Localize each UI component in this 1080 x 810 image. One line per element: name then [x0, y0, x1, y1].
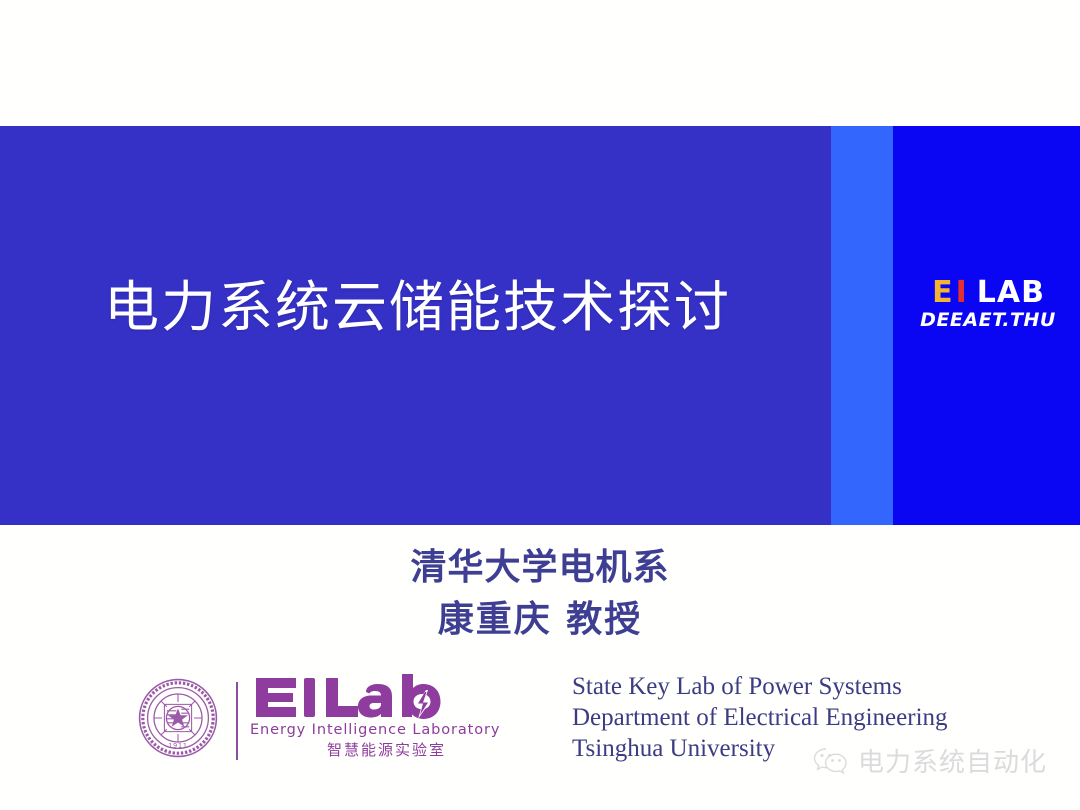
- tsinghua-seal-icon: 1911: [138, 678, 218, 758]
- affiliation-english-line2: Department of Electrical Engineering: [572, 702, 948, 733]
- ei-lab-badge-subtitle: DEEAET.THU: [908, 311, 1068, 330]
- eilab-logo: Energy Intelligence Laboratory 智慧能源实验室: [250, 672, 450, 760]
- logo-divider: [236, 682, 238, 760]
- ei-lab-letter-lab: LAB: [977, 278, 1045, 308]
- ei-lab-letter-i: I: [955, 278, 969, 308]
- eilab-wordmark-icon: [250, 672, 450, 724]
- eilab-tagline-chinese: 智慧能源实验室: [250, 739, 450, 760]
- ei-lab-badge-wordmark: EILAB: [908, 278, 1068, 308]
- eilab-tagline-english: Energy Intelligence Laboratory: [250, 722, 450, 738]
- slide-title: 电力系统云储能技术探讨: [104, 272, 804, 342]
- affiliation-english-line1: State Key Lab of Power Systems: [572, 671, 948, 702]
- wechat-watermark: 电力系统自动化: [812, 742, 1047, 779]
- ei-lab-badge: EILAB DEEAET.THU: [908, 278, 1068, 330]
- wechat-watermark-label: 电力系统自动化: [858, 742, 1047, 779]
- tsinghua-seal-year: 1911: [168, 742, 187, 750]
- presentation-slide: 电力系统云储能技术探讨 EILAB DEEAET.THU 清华大学电机系 康重庆…: [0, 0, 1080, 810]
- affiliation-chinese-presenter: 康重庆 教授: [0, 594, 1080, 646]
- banner-band-light-stripe: [831, 126, 893, 525]
- ei-lab-letter-e: E: [931, 278, 955, 308]
- affiliation-chinese-department: 清华大学电机系: [0, 542, 1080, 594]
- affiliation-chinese: 清华大学电机系 康重庆 教授: [0, 542, 1080, 646]
- wechat-icon: [812, 746, 850, 776]
